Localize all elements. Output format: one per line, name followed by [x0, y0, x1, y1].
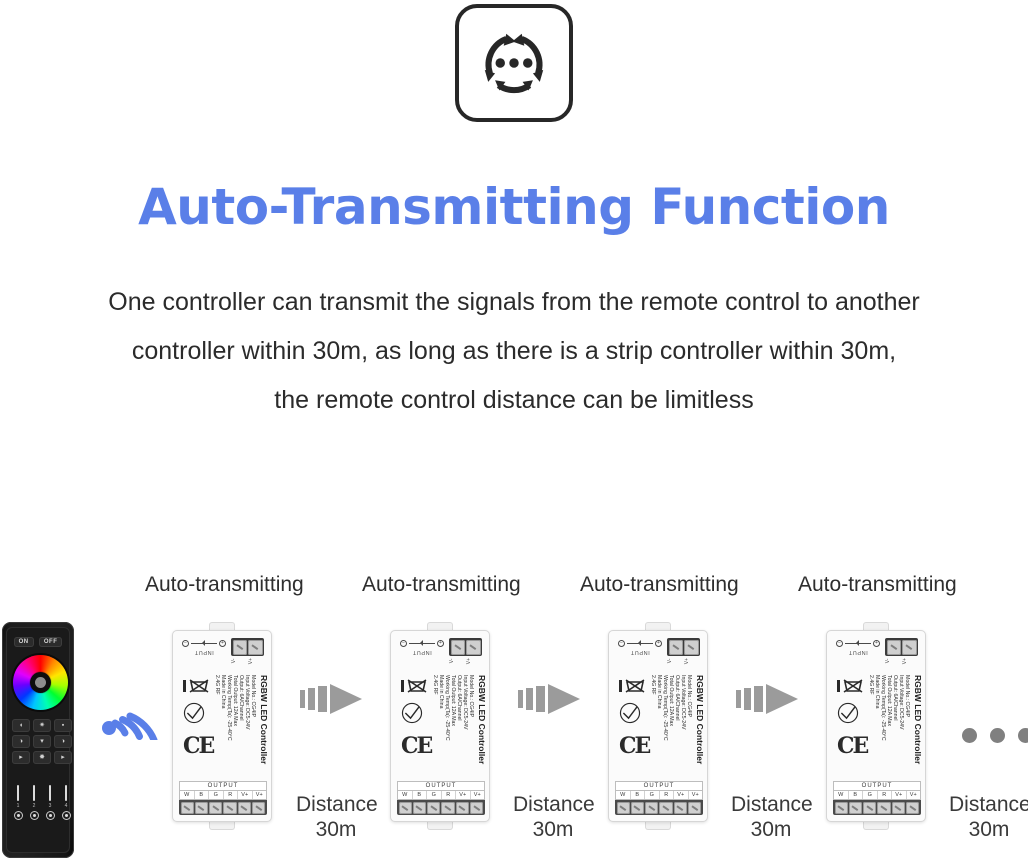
- output-section: OUTPUT W B G R V+ V+: [615, 781, 703, 815]
- spec-output: Output: 6A/Channel: [892, 675, 898, 721]
- ellipsis-dot: [990, 728, 1005, 743]
- input-label: INPUT: [182, 649, 226, 655]
- distance-word: Distance: [513, 792, 593, 817]
- output-terminal-label-v2: V+: [471, 791, 485, 799]
- controller-body: − + INPUT V- V+: [390, 630, 490, 822]
- remote-zone-2[interactable]: 2: [28, 785, 40, 820]
- output-terminal-block[interactable]: [833, 800, 921, 815]
- ce-mark-icon: CE: [401, 735, 435, 757]
- output-terminal-label-g: G: [209, 791, 224, 799]
- screw-terminal[interactable]: [223, 802, 236, 814]
- output-label: OUTPUT: [397, 781, 485, 790]
- screw-terminal[interactable]: [902, 640, 917, 655]
- output-terminal-label-g: G: [863, 791, 878, 799]
- screw-terminal[interactable]: [413, 802, 426, 814]
- transmission-arrow-3: [736, 682, 806, 721]
- output-terminal-label-v1: V+: [892, 791, 907, 799]
- input-terminal-label-vplus: V+: [248, 658, 265, 664]
- output-terminal-label-b: B: [631, 791, 646, 799]
- input-label: INPUT: [836, 649, 880, 655]
- screw-terminal[interactable]: [441, 802, 454, 814]
- negative-polarity-icon: −: [400, 640, 407, 647]
- zone-number: 2: [33, 803, 36, 809]
- input-label: INPUT: [400, 649, 444, 655]
- controller-model-title: RGBW LED Controller: [477, 675, 487, 764]
- zone-button[interactable]: [30, 811, 39, 820]
- output-terminal-labels: W B G R V+ V+: [833, 790, 921, 800]
- output-terminal-label-g: G: [427, 791, 442, 799]
- output-terminal-label-w: W: [834, 791, 849, 799]
- output-terminal-labels: W B G R V+ V+: [179, 790, 267, 800]
- polarity-arrow-icon: [191, 643, 217, 644]
- output-terminal-block[interactable]: [397, 800, 485, 815]
- output-terminal-label-v1: V+: [238, 791, 253, 799]
- controller-body: − + INPUT V- V+: [172, 630, 272, 822]
- auto-transmitting-label-1: Auto-transmitting: [145, 573, 304, 597]
- continuation-ellipsis-icon: [962, 728, 1028, 743]
- auto-transmitting-label-2: Auto-transmitting: [362, 573, 521, 597]
- positive-polarity-icon: +: [437, 640, 444, 647]
- color-wheel-center-button[interactable]: [35, 677, 46, 688]
- transmission-arrow-1: [300, 682, 370, 721]
- output-terminal-label-w: W: [616, 791, 631, 799]
- zone-number: 4: [65, 803, 68, 809]
- output-terminal-label-r: R: [224, 791, 239, 799]
- controller-spec-text: RGBW LED Controller Model No.: CG4IP Inp…: [655, 675, 705, 785]
- rcm-tick-mark-icon: [401, 702, 423, 724]
- controller-spec-text: RGBW LED Controller Model No.: CG4IP Inp…: [437, 675, 487, 785]
- screw-terminal[interactable]: [252, 802, 265, 814]
- negative-polarity-icon: −: [618, 640, 625, 647]
- input-polarity-marking: − + INPUT: [400, 640, 444, 655]
- transmission-arrow-2: [518, 682, 588, 721]
- remote-key-6[interactable]: ◑: [54, 735, 72, 748]
- zone-slider-icon: [17, 785, 19, 801]
- spec-temp: Working Temp(Ta): -25-40°C: [662, 675, 668, 741]
- description-line-3: the remote control distance can be limit…: [18, 376, 1010, 425]
- distance-value: 30m: [296, 817, 376, 842]
- mounting-tab-bottom: [645, 821, 671, 830]
- led-controller-1[interactable]: − + INPUT V- V+: [166, 622, 278, 830]
- screw-terminal[interactable]: [645, 802, 658, 814]
- screw-terminal[interactable]: [688, 802, 701, 814]
- distance-label-4: Distance 30m: [949, 792, 1028, 842]
- input-terminal-label-vplus: V+: [684, 658, 701, 664]
- screw-terminal[interactable]: [456, 802, 469, 814]
- auto-transmitting-label-4: Auto-transmitting: [798, 573, 957, 597]
- remote-function-keypad: ◖ ✷ ▪ ◑ ▾ ◑ ▸ ✸ ▸: [12, 719, 72, 764]
- screw-terminal[interactable]: [684, 640, 699, 655]
- remote-zone-1[interactable]: 1: [12, 785, 24, 820]
- output-label: OUTPUT: [833, 781, 921, 790]
- screw-terminal[interactable]: [617, 802, 630, 814]
- spec-model: Model No.: CG4IP: [468, 675, 474, 717]
- screw-terminal[interactable]: [877, 802, 890, 814]
- rcm-tick-mark-icon: [837, 702, 859, 724]
- positive-polarity-icon: +: [219, 640, 226, 647]
- distance-label-1: Distance 30m: [296, 792, 376, 842]
- input-terminal-labels: V- V+: [231, 658, 264, 664]
- zone-slider-icon: [49, 785, 51, 801]
- remote-key-1[interactable]: ◖: [12, 719, 30, 732]
- remote-key-8[interactable]: ✸: [33, 751, 51, 764]
- output-terminal-label-r: R: [442, 791, 457, 799]
- mounting-tab-bottom: [209, 821, 235, 830]
- input-polarity-marking: − + INPUT: [182, 640, 226, 655]
- ce-mark-icon: CE: [837, 735, 871, 757]
- spec-model: Model No.: CG4IP: [250, 675, 256, 717]
- output-terminal-label-r: R: [878, 791, 893, 799]
- spec-origin: Made in China: [656, 675, 662, 708]
- screw-terminal[interactable]: [427, 802, 440, 814]
- screw-terminal[interactable]: [195, 802, 208, 814]
- led-controller-4[interactable]: − + INPUT V- V+: [820, 622, 932, 830]
- remote-key-2[interactable]: ✷: [33, 719, 51, 732]
- negative-polarity-icon: −: [836, 640, 843, 647]
- zone-slider-icon: [33, 785, 35, 801]
- output-terminal-label-w: W: [180, 791, 195, 799]
- spec-temp: Working Temp(Ta): -25-40°C: [226, 675, 232, 741]
- output-terminal-label-v1: V+: [674, 791, 689, 799]
- controller-spec-text: RGBW LED Controller Model No.: CG4IP Inp…: [219, 675, 269, 785]
- polarity-arrow-icon: [845, 643, 871, 644]
- spec-temp: Working Temp(Ta): -25-40°C: [880, 675, 886, 741]
- weee-crossed-bin-icon: [183, 679, 213, 693]
- description-line-2: controller within 30m, as long as there …: [18, 327, 1010, 376]
- screw-terminal[interactable]: [233, 640, 248, 655]
- output-section: OUTPUT W B G R V+ V+: [397, 781, 485, 815]
- led-controller-2[interactable]: − + INPUT V- V+: [384, 622, 496, 830]
- spec-total: Total Output: 12A Max: [886, 675, 892, 726]
- input-terminal-label-vminus: V-: [449, 658, 466, 664]
- negative-polarity-icon: −: [182, 640, 189, 647]
- spec-total: Total Output: 12A Max: [668, 675, 674, 726]
- screw-terminal[interactable]: [466, 640, 481, 655]
- spec-model: Model No.: CG4IP: [904, 675, 910, 717]
- weee-crossed-bin-icon: [619, 679, 649, 693]
- weee-crossed-bin-icon: [401, 679, 431, 693]
- output-terminal-label-b: B: [849, 791, 864, 799]
- input-label: INPUT: [618, 649, 662, 655]
- output-terminal-label-v2: V+: [907, 791, 921, 799]
- certification-marks: CE: [183, 679, 217, 757]
- controller-body: − + INPUT V- V+: [608, 630, 708, 822]
- spec-temp: Working Temp(Ta): -25-40°C: [444, 675, 450, 741]
- polarity-arrow-icon: [409, 643, 435, 644]
- rf-signal-waves-icon: [100, 682, 162, 745]
- input-terminal-labels: V- V+: [667, 658, 700, 664]
- output-terminal-label-w: W: [398, 791, 413, 799]
- ellipsis-dot: [962, 728, 977, 743]
- input-terminal-label-vminus: V-: [885, 658, 902, 664]
- spec-total: Total Output: 12A Max: [450, 675, 456, 726]
- rcm-tick-mark-icon: [619, 702, 641, 724]
- input-terminal-block[interactable]: [449, 638, 482, 656]
- certification-marks: CE: [619, 679, 653, 757]
- mounting-tab-bottom: [863, 821, 889, 830]
- spec-rf: 2.4G RF: [868, 675, 874, 695]
- remote-key-9[interactable]: ▸: [54, 751, 72, 764]
- ce-mark-icon: CE: [183, 735, 217, 757]
- description-text: One controller can transmit the signals …: [0, 278, 1028, 425]
- input-terminal-label-vplus: V+: [902, 658, 919, 664]
- remote-key-3[interactable]: ▪: [54, 719, 72, 732]
- output-terminal-labels: W B G R V+ V+: [397, 790, 485, 800]
- auto-transmitting-diagram: Auto-transmitting Auto-transmitting Auto…: [0, 560, 1028, 862]
- output-label: OUTPUT: [615, 781, 703, 790]
- zone-slider-icon: [65, 785, 67, 801]
- certification-marks: CE: [401, 679, 435, 757]
- input-terminal-label-vplus: V+: [466, 658, 483, 664]
- screw-terminal[interactable]: [659, 802, 672, 814]
- screw-terminal[interactable]: [399, 802, 412, 814]
- input-terminal-labels: V- V+: [885, 658, 918, 664]
- controller-model-title: RGBW LED Controller: [913, 675, 923, 764]
- ellipsis-dot: [1018, 728, 1028, 743]
- weee-crossed-bin-icon: [837, 679, 867, 693]
- distance-value: 30m: [513, 817, 593, 842]
- spec-rf: 2.4G RF: [650, 675, 656, 695]
- remote-off-button[interactable]: OFF: [39, 637, 63, 647]
- spec-origin: Made in China: [438, 675, 444, 708]
- input-terminal-label-vminus: V-: [231, 658, 248, 664]
- spec-origin: Made in China: [220, 675, 226, 708]
- screw-terminal[interactable]: [181, 802, 194, 814]
- description-line-1: One controller can transmit the signals …: [18, 278, 1010, 327]
- output-terminal-label-b: B: [195, 791, 210, 799]
- spec-rf: 2.4G RF: [432, 675, 438, 695]
- remote-key-5[interactable]: ▾: [33, 735, 51, 748]
- input-terminal-block[interactable]: [667, 638, 700, 656]
- zone-number: 1: [17, 803, 20, 809]
- remote-face: ON OFF ◖ ✷ ▪ ◑ ▾ ◑ ▸ ✸ ▸ 1: [6, 627, 70, 853]
- spec-model: Model No.: CG4IP: [686, 675, 692, 717]
- remote-zone-4[interactable]: 4: [60, 785, 72, 820]
- distance-value: 30m: [731, 817, 811, 842]
- remote-on-button[interactable]: ON: [14, 637, 34, 647]
- distance-label-3: Distance 30m: [731, 792, 811, 842]
- spec-voltage: Input Voltage: DC5-24V: [244, 675, 250, 730]
- header-icon-container: [0, 0, 1028, 122]
- screw-terminal[interactable]: [674, 802, 687, 814]
- screw-terminal[interactable]: [209, 802, 222, 814]
- output-section: OUTPUT W B G R V+ V+: [179, 781, 267, 815]
- screw-terminal[interactable]: [248, 640, 263, 655]
- screw-terminal[interactable]: [470, 802, 483, 814]
- screw-terminal[interactable]: [451, 640, 466, 655]
- spec-voltage: Input Voltage: DC5-24V: [680, 675, 686, 730]
- ce-mark-icon: CE: [619, 735, 653, 757]
- certification-marks: CE: [837, 679, 871, 757]
- positive-polarity-icon: +: [655, 640, 662, 647]
- input-polarity-marking: − + INPUT: [836, 640, 880, 655]
- input-terminal-label-vminus: V-: [667, 658, 684, 664]
- remote-zone-row: 1 2 3 4: [12, 785, 72, 820]
- controller-model-title: RGBW LED Controller: [695, 675, 705, 764]
- output-terminal-label-b: B: [413, 791, 428, 799]
- auto-transmitting-label-3: Auto-transmitting: [580, 573, 739, 597]
- mounting-tab-bottom: [427, 821, 453, 830]
- output-section: OUTPUT W B G R V+ V+: [833, 781, 921, 815]
- distance-word: Distance: [731, 792, 811, 817]
- remote-power-row: ON OFF: [6, 637, 70, 647]
- controller-body: − + INPUT V- V+: [826, 630, 926, 822]
- screw-terminal[interactable]: [849, 802, 862, 814]
- zone-button[interactable]: [62, 811, 71, 820]
- input-terminal-block[interactable]: [885, 638, 918, 656]
- input-polarity-marking: − + INPUT: [618, 640, 662, 655]
- remote-key-4[interactable]: ◑: [12, 735, 30, 748]
- distance-value: 30m: [949, 817, 1028, 842]
- output-terminal-label-r: R: [660, 791, 675, 799]
- output-terminal-block[interactable]: [179, 800, 267, 815]
- led-controller-3[interactable]: − + INPUT V- V+: [602, 622, 714, 830]
- output-terminal-block[interactable]: [615, 800, 703, 815]
- spec-output: Output: 6A/Channel: [238, 675, 244, 721]
- controller-model-title: RGBW LED Controller: [259, 675, 269, 764]
- output-label: OUTPUT: [179, 781, 267, 790]
- spec-rf: 2.4G RF: [214, 675, 220, 695]
- spec-output: Output: 6A/Channel: [456, 675, 462, 721]
- remote-color-wheel[interactable]: [13, 655, 68, 710]
- polarity-arrow-icon: [627, 643, 653, 644]
- distance-word: Distance: [949, 792, 1028, 817]
- distance-word: Distance: [296, 792, 376, 817]
- zone-button[interactable]: [14, 811, 23, 820]
- zone-button[interactable]: [46, 811, 55, 820]
- screw-terminal[interactable]: [863, 802, 876, 814]
- output-terminal-label-v2: V+: [689, 791, 703, 799]
- spec-voltage: Input Voltage: DC5-24V: [898, 675, 904, 730]
- spec-voltage: Input Voltage: DC5-24V: [462, 675, 468, 730]
- input-terminal-block[interactable]: [231, 638, 264, 656]
- input-terminal-labels: V- V+: [449, 658, 482, 664]
- distance-label-2: Distance 30m: [513, 792, 593, 842]
- controller-spec-text: RGBW LED Controller Model No.: CG4IP Inp…: [873, 675, 923, 785]
- zone-number: 3: [49, 803, 52, 809]
- spec-origin: Made in China: [874, 675, 880, 708]
- screw-terminal[interactable]: [835, 802, 848, 814]
- output-terminal-label-v2: V+: [253, 791, 267, 799]
- remote-zone-3[interactable]: 3: [44, 785, 56, 820]
- positive-polarity-icon: +: [873, 640, 880, 647]
- output-terminal-label-v1: V+: [456, 791, 471, 799]
- remote-key-7[interactable]: ▸: [12, 751, 30, 764]
- spec-total: Total Output: 12A Max: [232, 675, 238, 726]
- screw-terminal[interactable]: [906, 802, 919, 814]
- screw-terminal[interactable]: [887, 640, 902, 655]
- spec-output: Output: 6A/Channel: [674, 675, 680, 721]
- output-terminal-label-g: G: [645, 791, 660, 799]
- screw-terminal[interactable]: [892, 802, 905, 814]
- screw-terminal[interactable]: [631, 802, 644, 814]
- output-terminal-labels: W B G R V+ V+: [615, 790, 703, 800]
- rcm-tick-mark-icon: [183, 702, 205, 724]
- screw-terminal[interactable]: [669, 640, 684, 655]
- screw-terminal[interactable]: [238, 802, 251, 814]
- auto-transmit-circular-arrows-icon: [455, 4, 573, 122]
- remote-control[interactable]: ON OFF ◖ ✷ ▪ ◑ ▾ ◑ ▸ ✸ ▸ 1: [2, 622, 74, 858]
- page-title: Auto-Transmitting Function: [0, 178, 1028, 236]
